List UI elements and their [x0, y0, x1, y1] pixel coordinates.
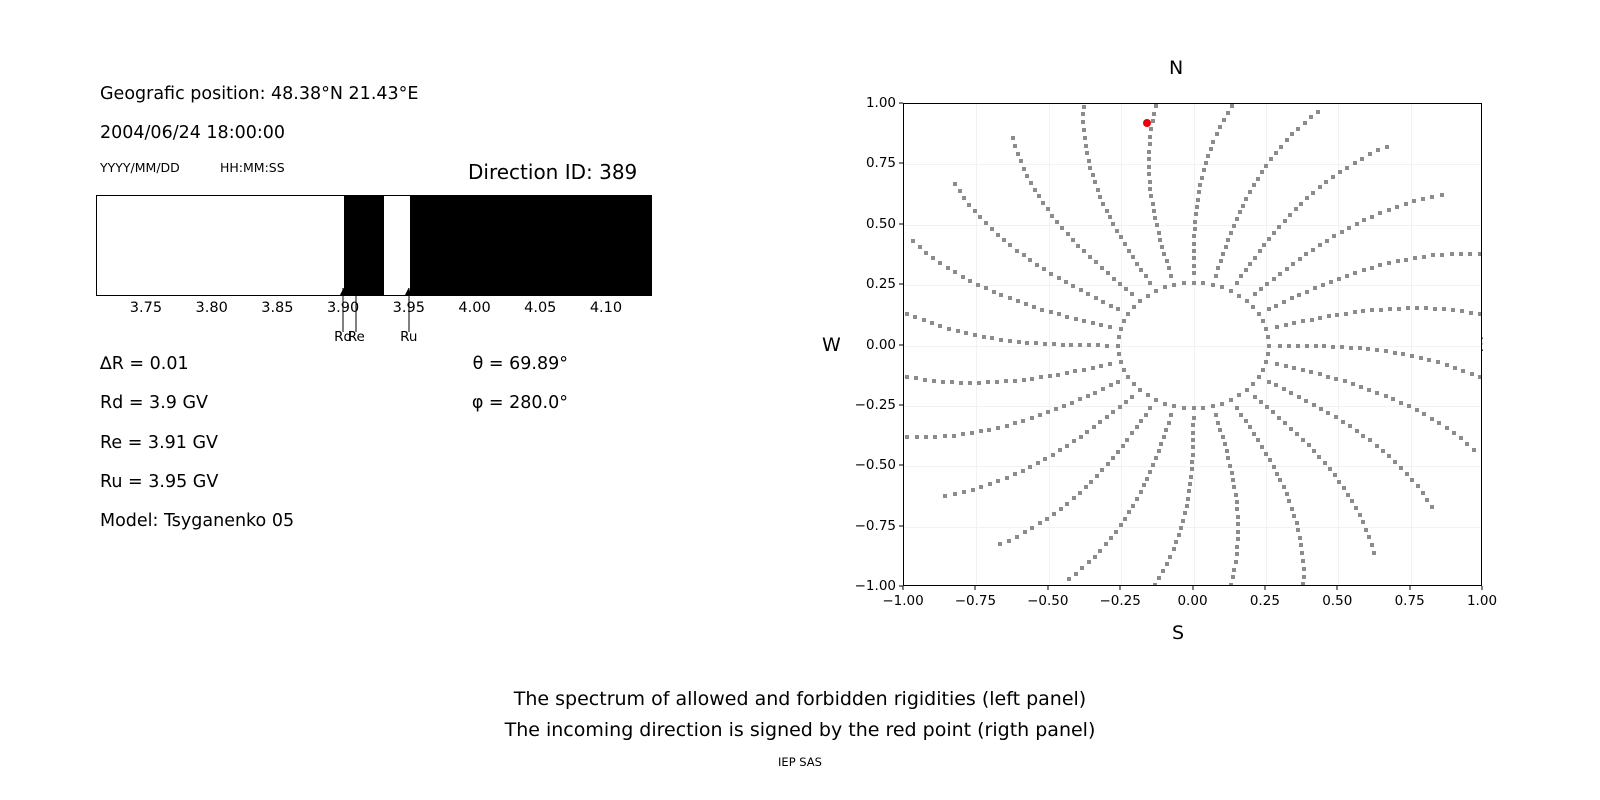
direction-grid-point — [1200, 176, 1204, 180]
direction-grid-point — [1229, 398, 1233, 402]
direction-grid-point — [1146, 294, 1150, 298]
direction-grid-point — [1112, 277, 1116, 281]
direction-grid-point — [1215, 132, 1219, 136]
direction-grid-point — [1470, 372, 1474, 376]
direction-grid-point — [1277, 225, 1281, 229]
direction-grid-point — [1091, 366, 1095, 370]
direction-grid-point — [1353, 161, 1357, 165]
direction-grid-point — [1127, 510, 1131, 514]
direction-grid-point — [1157, 231, 1161, 235]
direction-grid-point — [1318, 243, 1322, 247]
direction-grid-point — [1232, 485, 1236, 489]
polar-xtick-mark — [1120, 586, 1121, 590]
direction-grid-point — [1318, 185, 1322, 189]
direction-grid-point — [1043, 457, 1047, 461]
direction-grid-point — [1235, 545, 1239, 549]
direction-grid-point — [1147, 172, 1151, 176]
direction-grid-point — [1148, 135, 1152, 139]
direction-grid-point — [1154, 289, 1158, 293]
direction-grid-point — [1148, 281, 1152, 285]
direction-grid-point — [1165, 562, 1169, 566]
direction-grid-point — [1073, 369, 1077, 373]
direction-grid-point — [1283, 219, 1287, 223]
direction-grid-point — [1245, 388, 1249, 392]
direction-grid-point — [1098, 420, 1102, 424]
direction-grid-point — [961, 432, 965, 436]
direction-grid-point — [967, 203, 971, 207]
direction-grid-point — [1387, 454, 1391, 458]
direction-grid-point — [1023, 530, 1027, 534]
direction-grid-point — [979, 429, 983, 433]
direction-grid-point — [1157, 576, 1161, 580]
direction-grid-point — [1201, 281, 1205, 285]
direction-grid-point — [1248, 262, 1252, 266]
direction-grid-point — [1025, 341, 1029, 345]
direction-grid-point — [1359, 385, 1363, 389]
direction-grid-point — [1239, 413, 1243, 417]
compass-label-north: N — [1169, 57, 1183, 79]
direction-grid-point — [1311, 248, 1315, 252]
direction-grid-point — [1079, 435, 1083, 439]
direction-grid-point — [1274, 383, 1278, 387]
direction-grid-point — [1272, 277, 1276, 281]
direction-grid-point — [1051, 453, 1055, 457]
direction-grid-point — [1131, 504, 1135, 508]
direction-grid-point — [1232, 568, 1236, 572]
direction-grid-point — [1015, 249, 1019, 253]
direction-grid-point — [1013, 472, 1017, 476]
direction-grid-point — [1192, 406, 1196, 410]
direction-grid-point — [1190, 467, 1194, 471]
direction-grid-point — [1460, 309, 1464, 313]
direction-grid-point — [1116, 307, 1120, 311]
polar-xtick-label: −0.25 — [1099, 593, 1140, 609]
direction-grid-point — [1437, 421, 1441, 425]
direction-grid-point — [1159, 442, 1163, 446]
direction-grid-point — [1022, 167, 1026, 171]
direction-grid-point — [1145, 477, 1149, 481]
direction-grid-point — [1191, 438, 1195, 442]
direction-grid-point — [1201, 406, 1205, 410]
direction-grid-point — [1294, 207, 1298, 211]
direction-grid-point — [1060, 226, 1064, 230]
polar-xtick-mark — [1482, 586, 1483, 590]
direction-grid-point — [953, 492, 957, 496]
direction-grid-point — [1370, 543, 1374, 547]
direction-grid-point — [1275, 472, 1279, 476]
direction-grid-point — [1104, 542, 1108, 546]
direction-grid-point — [1187, 489, 1191, 493]
direction-grid-point — [924, 251, 928, 255]
direction-grid-point — [996, 233, 1000, 237]
direction-grid-point — [1189, 475, 1193, 479]
direction-grid-point — [1082, 249, 1086, 253]
direction-grid-point — [1008, 339, 1012, 343]
direction-grid-point — [1169, 413, 1173, 417]
direction-grid-point — [1045, 517, 1049, 521]
rigidity-marker-arrow-ru — [408, 288, 409, 332]
direction-grid-point — [1052, 342, 1056, 346]
direction-grid-point — [1334, 415, 1338, 419]
direction-grid-point — [1016, 299, 1020, 303]
direction-grid-point — [1096, 188, 1100, 192]
direction-grid-point — [1317, 455, 1321, 459]
direction-grid-point — [1007, 539, 1011, 543]
direction-grid-point — [1226, 111, 1230, 115]
direction-grid-point — [1109, 536, 1113, 540]
direction-grid-point — [1139, 419, 1143, 423]
direction-grid-point — [1054, 407, 1058, 411]
direction-grid-point — [1341, 420, 1345, 424]
direction-grid-point — [1191, 453, 1195, 457]
polar-ytick-mark — [899, 344, 903, 345]
direction-grid-point — [1307, 443, 1311, 447]
direction-grid-point — [1021, 419, 1025, 423]
direction-grid-point — [1442, 307, 1446, 311]
direction-grid-point — [1188, 482, 1192, 486]
direction-grid-point — [1338, 170, 1342, 174]
direction-grid-point — [1401, 352, 1405, 356]
direction-grid-point — [1088, 166, 1092, 170]
direction-grid-point — [1198, 183, 1202, 187]
direction-grid-point — [1381, 449, 1385, 453]
direction-grid-point — [1358, 513, 1362, 517]
direction-grid-point — [1287, 499, 1291, 503]
direction-grid-point — [1123, 517, 1127, 521]
polar-xtick-mark — [975, 586, 976, 590]
direction-grid-point — [1312, 403, 1316, 407]
direction-grid-point — [1193, 227, 1197, 231]
direction-grid-point — [1318, 316, 1322, 320]
direction-grid-point — [1081, 112, 1085, 116]
direction-grid-point — [905, 312, 909, 316]
right-panel: N W E S −1.00−0.75−0.50−0.250.000.250.50… — [800, 0, 1600, 680]
direction-grid-point — [1445, 363, 1449, 367]
polar-ytick-label: 0.00 — [846, 337, 896, 353]
direction-grid-point — [1291, 262, 1295, 266]
direction-grid-point — [1132, 305, 1136, 309]
direction-grid-point — [971, 488, 975, 492]
direction-grid-point — [1260, 445, 1264, 449]
direction-grid-point — [1421, 197, 1425, 201]
direction-grid-point — [1059, 507, 1063, 511]
direction-grid-point — [1269, 157, 1273, 161]
direction-grid-point — [1372, 551, 1376, 555]
direction-grid-point — [1236, 515, 1240, 519]
direction-grid-point — [1267, 307, 1271, 311]
direction-grid-point — [977, 381, 981, 385]
direction-grid-point — [1149, 127, 1153, 131]
direction-grid-point — [1325, 239, 1329, 243]
direction-grid-point — [1343, 379, 1347, 383]
polar-ytick-mark — [899, 465, 903, 466]
direction-grid-point — [1163, 402, 1167, 406]
direction-grid-point — [1282, 387, 1286, 391]
direction-grid-point — [1406, 306, 1410, 310]
parameter-right-1: φ = 280.0° — [472, 393, 568, 413]
polar-ytick-mark — [899, 404, 903, 405]
direction-grid-point — [1264, 452, 1268, 456]
direction-grid-point — [1451, 308, 1455, 312]
direction-grid-point — [1304, 399, 1308, 403]
direction-grid-point — [1399, 466, 1403, 470]
direction-grid-point — [1154, 104, 1158, 108]
direction-grid-point — [1376, 148, 1380, 152]
direction-grid-point — [1302, 575, 1306, 579]
direction-grid-point — [1017, 340, 1021, 344]
direction-grid-point — [1013, 421, 1017, 425]
direction-grid-point — [1086, 394, 1090, 398]
polar-xtick-label: −1.00 — [882, 593, 923, 609]
direction-grid-point — [1123, 242, 1127, 246]
direction-grid-point — [1065, 371, 1069, 375]
direction-grid-point — [1333, 473, 1337, 477]
direction-grid-point — [1384, 349, 1388, 353]
direction-grid-point — [1261, 319, 1265, 323]
direction-grid-point — [1149, 194, 1153, 198]
direction-grid-point — [1197, 190, 1201, 194]
direction-grid-point — [1287, 344, 1291, 348]
direction-grid-point — [1278, 344, 1282, 348]
direction-grid-point — [1052, 512, 1056, 516]
direction-grid-point — [1361, 309, 1365, 313]
direction-grid-point — [1331, 345, 1335, 349]
direction-grid-point — [1084, 144, 1088, 148]
direction-grid-point — [1431, 253, 1435, 257]
direction-grid-point — [1367, 535, 1371, 539]
rigidity-spectrum-chart — [96, 195, 652, 296]
direction-grid-point — [1229, 231, 1233, 235]
direction-grid-point — [1084, 485, 1088, 489]
direction-grid-point — [1424, 306, 1428, 310]
direction-grid-point — [1126, 312, 1130, 316]
direction-grid-point — [1367, 388, 1371, 392]
direction-grid-point — [1029, 181, 1033, 185]
direction-grid-point — [1138, 299, 1142, 303]
direction-grid-point — [1135, 497, 1139, 501]
direction-grid-point — [1221, 435, 1225, 439]
direction-grid-point — [1157, 449, 1161, 453]
direction-grid-point — [1114, 530, 1118, 534]
direction-grid-point — [1303, 121, 1307, 125]
direction-grid-point — [1353, 310, 1357, 314]
direction-grid-point — [1005, 476, 1009, 480]
direction-grid-point — [1048, 374, 1052, 378]
direction-grid-point — [1096, 343, 1100, 347]
direction-grid-point — [1119, 235, 1123, 239]
direction-grid-point — [1191, 445, 1195, 449]
direction-grid-point — [1393, 351, 1397, 355]
direction-grid-point — [1144, 413, 1148, 417]
direction-grid-point — [914, 376, 918, 380]
direction-grid-point — [1299, 202, 1303, 206]
direction-grid-point — [1285, 267, 1289, 271]
direction-grid-point — [1072, 496, 1076, 500]
direction-grid-point — [1302, 567, 1306, 571]
direction-grid-point — [1064, 280, 1068, 284]
direction-grid-point — [1299, 543, 1303, 547]
direction-grid-point — [1316, 110, 1320, 114]
direction-grid-point — [1065, 444, 1069, 448]
direction-grid-point — [1237, 393, 1241, 397]
direction-grid-point — [1267, 237, 1271, 241]
direction-grid-point — [1354, 506, 1358, 510]
direction-grid-point — [1164, 428, 1168, 432]
forbidden-band — [344, 196, 383, 295]
direction-grid-point — [1314, 344, 1318, 348]
direction-grid-point — [1277, 416, 1281, 420]
polar-ytick-mark — [899, 284, 903, 285]
direction-grid-point — [1244, 419, 1248, 423]
direction-grid-point — [1355, 429, 1359, 433]
direction-grid-point — [988, 482, 992, 486]
caption-line-0: The spectrum of allowed and forbidden ri… — [0, 684, 1600, 715]
direction-grid-point — [1231, 478, 1235, 482]
direction-grid-point — [1346, 493, 1350, 497]
direction-grid-point — [1235, 406, 1239, 410]
direction-grid-point — [1214, 274, 1218, 278]
direction-grid-point — [1298, 536, 1302, 540]
direction-grid-point — [1034, 341, 1038, 345]
direction-grid-point — [1259, 287, 1263, 291]
direction-grid-point — [1251, 305, 1255, 309]
direction-grid-point — [1290, 132, 1294, 136]
parameter-left-0: ∆R = 0.01 — [100, 354, 189, 374]
direction-grid-point — [1368, 152, 1372, 156]
gridline-horizontal — [904, 225, 1481, 226]
direction-grid-point — [1261, 368, 1265, 372]
direction-grid-point — [905, 375, 909, 379]
gridline-vertical — [1049, 104, 1050, 585]
gridline-horizontal — [904, 346, 1481, 347]
direction-grid-point — [1069, 343, 1073, 347]
direction-grid-point — [1135, 425, 1139, 429]
direction-grid-point — [1050, 214, 1054, 218]
direction-grid-point — [1155, 223, 1159, 227]
direction-grid-point — [1116, 344, 1120, 348]
direction-id-text: Direction ID: 389 — [468, 160, 637, 184]
direction-grid-point — [1151, 463, 1155, 467]
direction-grid-point — [1196, 198, 1200, 202]
direction-grid-point — [1161, 569, 1165, 573]
direction-grid-point — [1192, 271, 1196, 275]
polar-ytick-mark — [899, 163, 903, 164]
direction-grid-point — [1272, 465, 1276, 469]
direction-grid-point — [1469, 311, 1473, 315]
direction-grid-point — [1362, 218, 1366, 222]
direction-grid-point — [1256, 438, 1260, 442]
direction-grid-point — [1065, 502, 1069, 506]
direction-grid-point — [1192, 234, 1196, 238]
direction-grid-point — [1222, 118, 1226, 122]
direction-grid-point — [1021, 469, 1025, 473]
direction-grid-point — [1264, 164, 1268, 168]
direction-grid-point — [984, 286, 988, 290]
parameter-right-0: θ = 69.89° — [473, 354, 568, 374]
direction-grid-point — [924, 435, 928, 439]
direction-grid-point — [1079, 288, 1083, 292]
direction-grid-point — [1148, 406, 1152, 410]
direction-grid-point — [1404, 202, 1408, 206]
left-panel: Geografic position: 48.38°N 21.43°E 2004… — [0, 0, 800, 680]
direction-grid-point — [1111, 410, 1115, 414]
direction-grid-point — [1296, 127, 1300, 131]
direction-grid-point — [1100, 266, 1104, 270]
direction-grid-point — [1472, 448, 1476, 452]
direction-grid-point — [1349, 346, 1353, 350]
direction-grid-point — [1282, 300, 1286, 304]
direction-grid-point — [1109, 304, 1113, 308]
direction-grid-point — [1337, 480, 1341, 484]
direction-grid-point — [1101, 300, 1105, 304]
figure-caption: The spectrum of allowed and forbidden ri… — [0, 684, 1600, 746]
direction-grid-point — [1309, 115, 1313, 119]
direction-grid-point — [1345, 166, 1349, 170]
geographic-position-text: Geografic position: 48.38°N 21.43°E — [100, 84, 418, 104]
direction-grid-point — [1028, 465, 1032, 469]
polar-ytick-mark — [899, 103, 903, 104]
direction-grid-point — [1419, 356, 1423, 360]
direction-grid-point — [1087, 159, 1091, 163]
direction-grid-point — [953, 182, 957, 186]
direction-grid-point — [1192, 242, 1196, 246]
rigidity-spectrum-bar — [96, 195, 652, 296]
direction-grid-point — [1297, 293, 1301, 297]
direction-grid-point — [1148, 142, 1152, 146]
direction-grid-point — [1082, 368, 1086, 372]
polar-ytick-mark — [899, 223, 903, 224]
direction-grid-point — [1289, 391, 1293, 395]
direction-grid-point — [1105, 209, 1109, 213]
direction-grid-point — [1285, 492, 1289, 496]
direction-grid-point — [1094, 296, 1098, 300]
direction-grid-point — [1124, 400, 1128, 404]
direction-grid-point — [1237, 294, 1241, 298]
direction-grid-point — [1078, 343, 1082, 347]
direction-grid-point — [1093, 555, 1097, 559]
direction-grid-point — [1024, 302, 1028, 306]
direction-grid-point — [1099, 323, 1103, 327]
direction-grid-point — [1105, 344, 1109, 348]
direction-grid-point — [1235, 500, 1239, 504]
direction-grid-point — [1289, 427, 1293, 431]
direction-grid-point — [1042, 267, 1046, 271]
direction-grid-point — [1282, 485, 1286, 489]
direction-grid-point — [1229, 289, 1233, 293]
rigidity-marker-layer: RdReRu — [96, 288, 652, 350]
direction-grid-point — [1132, 382, 1136, 386]
direction-grid-point — [962, 490, 966, 494]
direction-grid-point — [1071, 284, 1075, 288]
direction-grid-point — [922, 318, 926, 322]
direction-grid-point — [1216, 421, 1220, 425]
polar-xtick-label: −0.75 — [955, 593, 996, 609]
direction-grid-point — [1160, 245, 1164, 249]
direction-grid-point — [995, 380, 999, 384]
direction-grid-point — [1179, 526, 1183, 530]
direction-grid-point — [1288, 213, 1292, 217]
direction-grid-point — [1191, 423, 1195, 427]
direction-grid-point — [1340, 345, 1344, 349]
direction-grid-point — [1035, 263, 1039, 267]
direction-grid-point — [1082, 105, 1086, 109]
direction-grid-point — [1148, 470, 1152, 474]
direction-grid-point — [1267, 344, 1271, 348]
direction-grid-point — [1239, 274, 1243, 278]
direction-grid-point — [941, 380, 945, 384]
direction-grid-point — [1260, 170, 1264, 174]
direction-grid-point — [1248, 190, 1252, 194]
